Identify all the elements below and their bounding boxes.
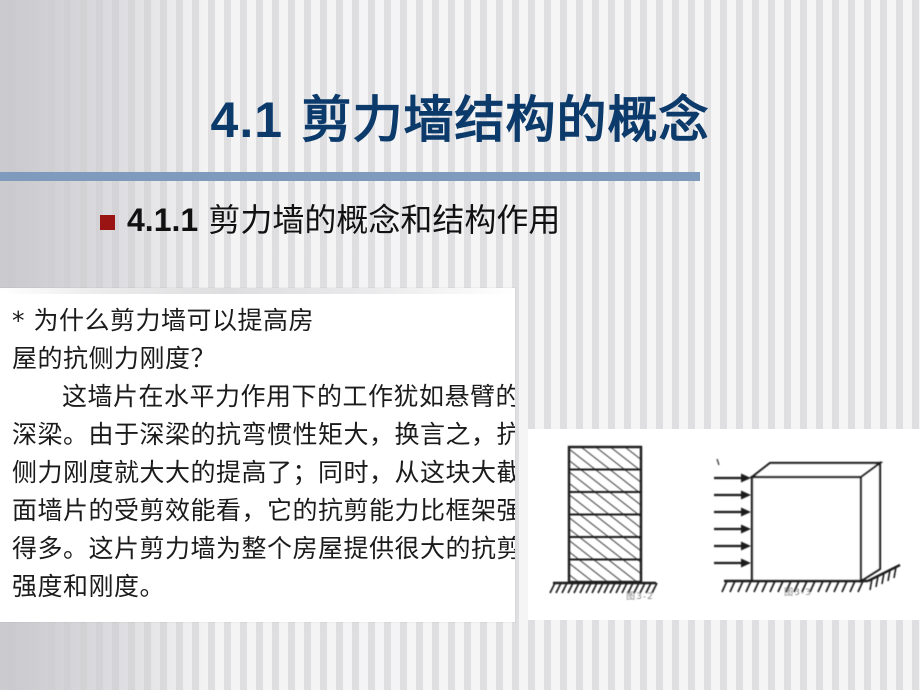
scan-paragraph: 这墙片在水平力作用下的工作犹如悬臂的深梁。由于深梁的抗弯惯性矩大，换言之，抗侧力… — [12, 378, 515, 606]
scanned-text-panel: * 为什么剪力墙可以提高房 屋的抗侧力刚度？ 这墙片在水平力作用下的工作犹如悬臂… — [0, 288, 515, 622]
left-figure-caption: 图3-2 — [580, 589, 700, 602]
title-divider-rule — [0, 172, 700, 181]
square-bullet-icon — [100, 215, 115, 230]
figure-panel: 图3-2 图3-3 — [528, 429, 920, 620]
lateral-force-arrows — [714, 478, 741, 563]
slide-title-text: 剪力墙结构的概念 — [301, 91, 709, 149]
scan-question-line2: 屋的抗侧力刚度？ — [12, 340, 515, 378]
right-figure-caption: 图3-3 — [728, 585, 868, 598]
subtitle-text: 剪力墙的概念和结构作用 — [208, 201, 560, 239]
arrow-heads — [741, 474, 751, 568]
subtitle-number: 4.1.1 — [127, 202, 198, 238]
scanned-text-body: * 为什么剪力墙可以提高房 屋的抗侧力刚度？ 这墙片在水平力作用下的工作犹如悬臂… — [12, 302, 515, 606]
detail-tick — [717, 459, 719, 465]
page-title: 4.1 剪力墙结构的概念 — [0, 84, 920, 164]
slab-top-face — [752, 463, 880, 477]
scan-question-line1: * 为什么剪力墙可以提高房 — [12, 302, 515, 340]
slab-front-face — [752, 477, 861, 581]
slide-title-heading: 4.1 剪力墙结构的概念 — [0, 84, 920, 156]
slide-title-number: 4.1 — [211, 92, 284, 148]
scan-edge-band — [0, 288, 515, 294]
right-figure-lateral-load-slab — [714, 459, 900, 592]
slab-right-face — [861, 463, 880, 581]
left-figure-multistorey-wall — [550, 447, 657, 593]
slide-canvas: 4.1 剪力墙结构的概念 4.1.1 剪力墙的概念和结构作用 * 为什么剪力墙可… — [0, 0, 920, 690]
subtitle-heading: 4.1.1 剪力墙的概念和结构作用 — [127, 198, 560, 242]
subtitle-row: 4.1.1 剪力墙的概念和结构作用 — [100, 198, 560, 242]
